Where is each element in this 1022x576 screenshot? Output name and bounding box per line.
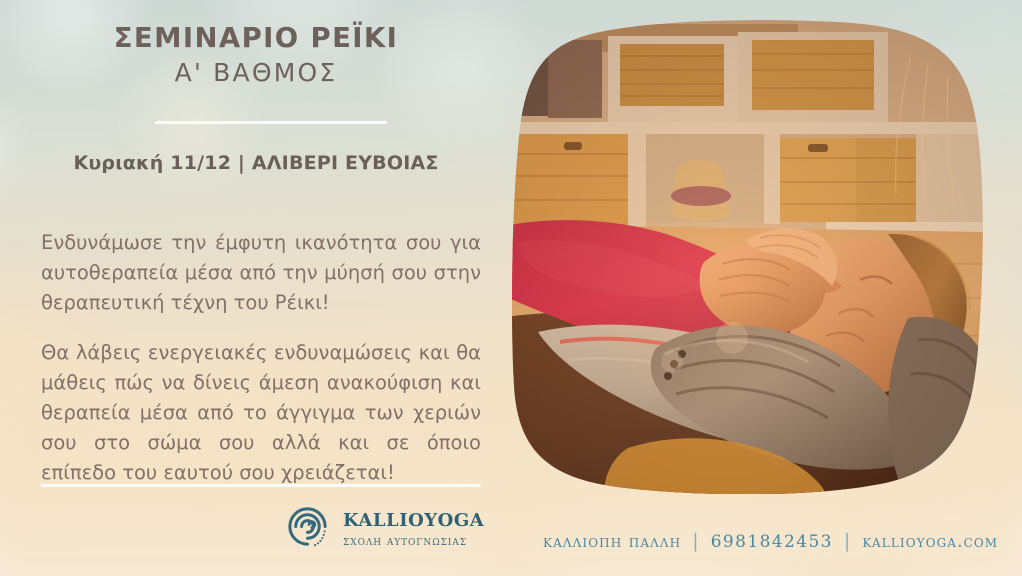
contact-website[interactable]: KallioYoga.com [862, 532, 998, 552]
text-column: ΣΕΜΙΝΑΡΙΟ ΡΕΪΚΙ Α' ΒΑΘΜΟΣ Κυριακή 11/12 … [0, 0, 512, 576]
brand-lockup: KallioYoga Σχολη Αυτογνωσιας [284, 503, 484, 550]
contact-separator-2: | [844, 530, 852, 552]
contact-name: Καλλιοπη Παλλη [543, 532, 681, 552]
footer-contact-bar: Καλλιοπη Παλλη | 6981842453 | KallioYoga… [543, 530, 998, 552]
page-subtitle: Α' ΒΑΘΜΟΣ [0, 54, 512, 92]
divider-top [155, 121, 387, 124]
photo-illustration [508, 18, 986, 494]
body-paragraph-1: Ενδυνάμωσε την έμφυτη ικανότητα σου για … [41, 228, 481, 319]
contact-separator-1: | [692, 530, 700, 552]
brand-wordmark: KallioYoga Σχολη Αυτογνωσιας [343, 505, 484, 548]
spiral-icon [284, 503, 331, 550]
body-paragraph-2: Θα λάβεις ενεργειακές ενδυναμώσεις και θ… [41, 338, 481, 489]
brand-name: KallioYoga [343, 505, 484, 530]
poster-canvas: ΣΕΜΙΝΑΡΙΟ ΡΕΪΚΙ Α' ΒΑΘΜΟΣ Κυριακή 11/12 … [0, 0, 1022, 576]
page-title: ΣΕΜΙΝΑΡΙΟ ΡΕΪΚΙ [0, 22, 512, 54]
divider-bottom [41, 484, 481, 487]
headline-block: ΣΕΜΙΝΑΡΙΟ ΡΕΪΚΙ Α' ΒΑΘΜΟΣ [0, 22, 512, 92]
contact-phone[interactable]: 6981842453 [711, 532, 833, 552]
date-location-line: Κυριακή 11/12 | ΑΛΙΒΕΡΙ ΕΥΒΟΙΑΣ [0, 152, 512, 174]
brand-tagline: Σχολη Αυτογνωσιας [343, 535, 484, 548]
reiki-session-photo [508, 18, 986, 494]
